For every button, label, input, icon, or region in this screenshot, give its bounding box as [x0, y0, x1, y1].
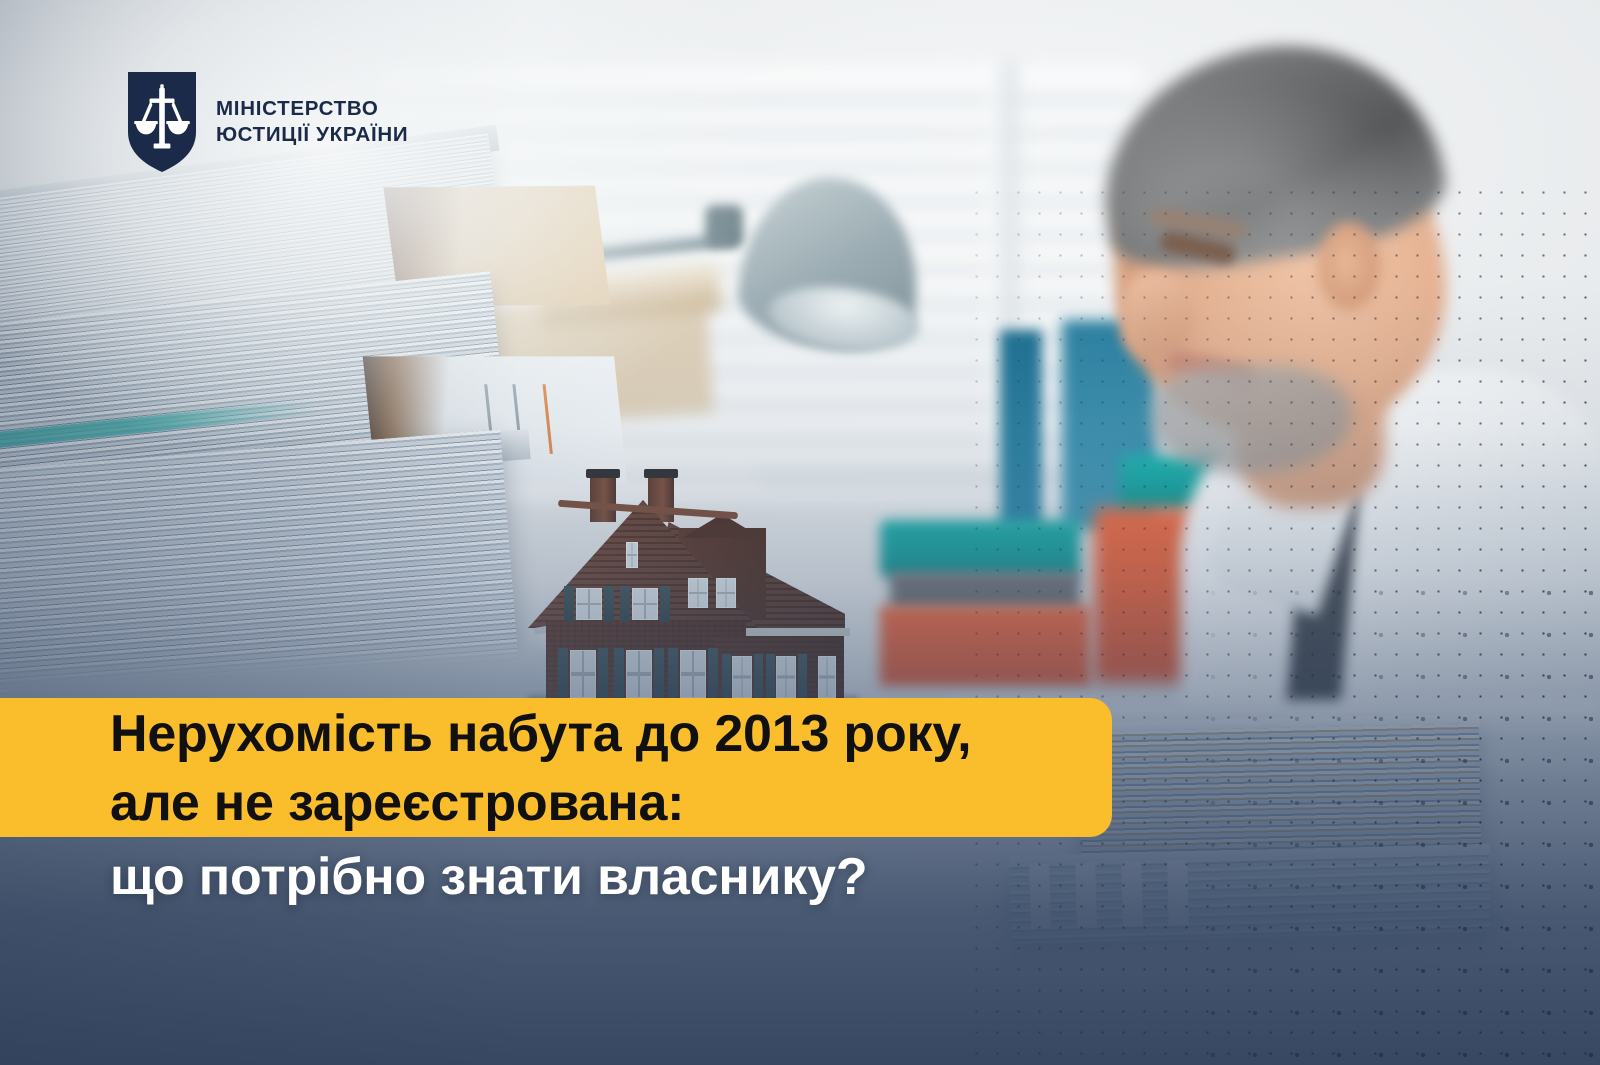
headline: Нерухомість набута до 2013 року, але не … — [110, 700, 1310, 912]
headline-line-1: Нерухомість набута до 2013 року, — [110, 700, 1310, 769]
headline-line-3: що потрібно знати власнику? — [110, 843, 1310, 912]
top-left-light-vignette — [0, 0, 780, 460]
social-card: МІНІСТЕРСТВО ЮСТИЦІЇ УКРАЇНИ Нерухомість… — [0, 0, 1600, 1065]
shield-scales-of-justice-icon — [128, 72, 196, 172]
ministry-logo: МІНІСТЕРСТВО ЮСТИЦІЇ УКРАЇНИ — [128, 72, 408, 172]
headline-line-2: але не зареєстрована: — [110, 769, 1310, 838]
ministry-name-line-2: ЮСТИЦІЇ УКРАЇНИ — [216, 122, 408, 148]
ministry-logo-text: МІНІСТЕРСТВО ЮСТИЦІЇ УКРАЇНИ — [216, 96, 408, 148]
ministry-name-line-1: МІНІСТЕРСТВО — [216, 96, 408, 122]
